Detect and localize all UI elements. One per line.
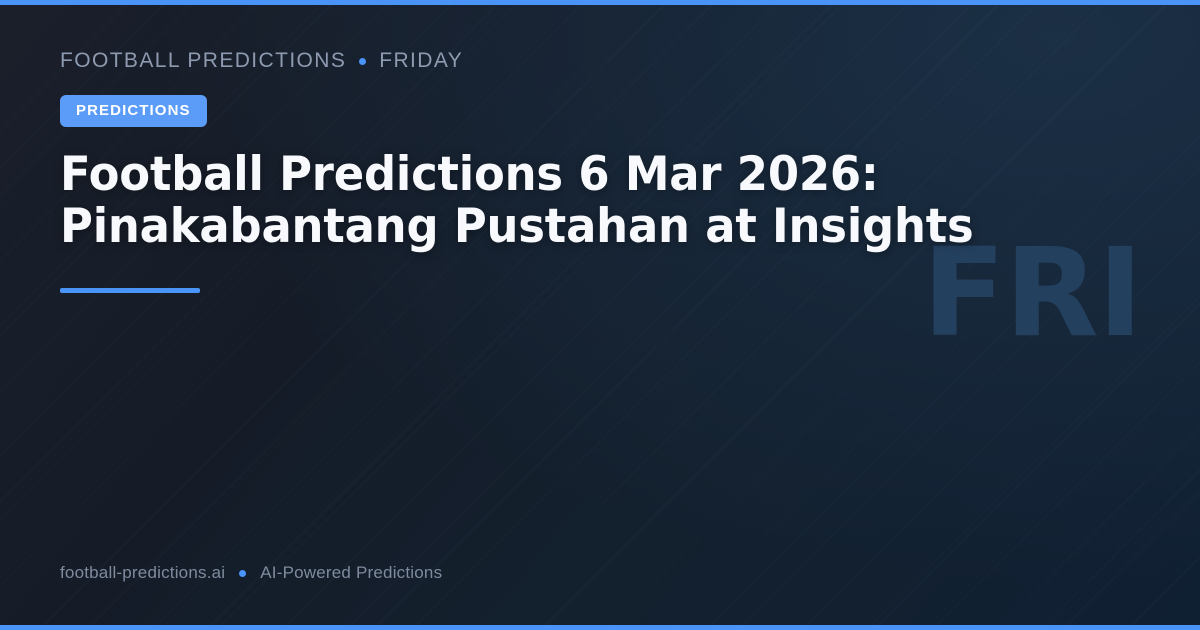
social-share-card: FRI FOOTBALL PREDICTIONS FRIDAY PREDICTI… xyxy=(0,0,1200,630)
footer-site[interactable]: football-predictions.ai xyxy=(60,563,225,583)
footer: football-predictions.ai AI-Powered Predi… xyxy=(60,563,442,583)
top-accent-bar xyxy=(0,0,1200,5)
bottom-accent-bar xyxy=(0,625,1200,630)
bullet-dot-icon xyxy=(359,58,366,65)
footer-tagline: AI-Powered Predictions xyxy=(260,563,442,583)
page-title: Football Predictions 6 Mar 2026: Pinakab… xyxy=(60,149,1005,253)
card-content: FOOTBALL PREDICTIONS FRIDAY PREDICTIONS … xyxy=(0,0,1200,630)
kicker-category: FOOTBALL PREDICTIONS xyxy=(60,49,346,73)
bullet-dot-icon xyxy=(239,570,246,577)
kicker-day: FRIDAY xyxy=(379,49,463,73)
title-accent-underline xyxy=(60,288,200,293)
kicker: FOOTBALL PREDICTIONS FRIDAY xyxy=(60,48,1140,74)
predictions-badge[interactable]: PREDICTIONS xyxy=(60,95,207,127)
